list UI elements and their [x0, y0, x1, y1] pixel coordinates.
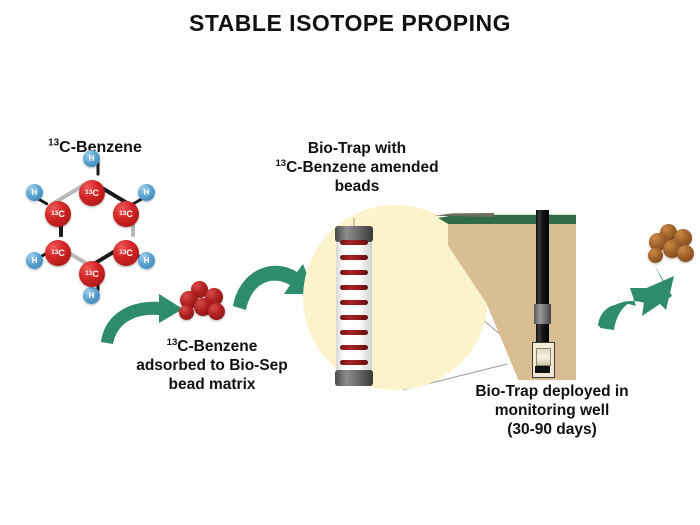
bead-red-5 — [208, 303, 225, 320]
bio-trap-bead-band — [340, 330, 368, 335]
diagram-canvas: STABLE ISOTOPE PROPING 13C-Benzene 13C 1… — [0, 0, 700, 525]
bio-trap-bead-band — [340, 315, 368, 320]
bio-trap-bead-band — [340, 360, 368, 365]
bio-trap-bead-band — [340, 255, 368, 260]
bead-brown-6 — [648, 248, 663, 263]
biotrap-line-2: 13C-Benzene amended — [275, 159, 438, 176]
bio-trap-cap-bottom — [335, 370, 373, 386]
benzene-label-text: C-Benzene — [59, 139, 142, 156]
bead-brown-5 — [677, 245, 694, 262]
adsorbed-caption: 13C-Benzeneadsorbed to Bio-Sepbead matri… — [112, 338, 312, 395]
bio-trap-bead-band — [340, 285, 368, 290]
carbon-atom-c1: 13C — [79, 180, 105, 206]
adsorbed-line-2: adsorbed to Bio-Sep — [136, 357, 288, 374]
hydrogen-atom-h1: H — [83, 150, 100, 167]
page-title: STABLE ISOTOPE PROPING — [0, 10, 700, 37]
hydrogen-atom-h6: H — [26, 184, 43, 201]
monitoring-well-cross-section — [448, 208, 576, 380]
adsorbed-line-3: bead matrix — [168, 376, 255, 393]
hydrogen-atom-h2: H — [138, 184, 155, 201]
bead-cluster-red — [177, 281, 229, 325]
well-casing-joint — [534, 304, 551, 324]
bio-trap-bead-band — [340, 300, 368, 305]
bio-trap-bead-band — [340, 345, 368, 350]
carbon-atom-c2: 13C — [113, 201, 139, 227]
carbon-atom-c6: 13C — [45, 201, 71, 227]
carbon-atom-c3: 13C — [113, 240, 139, 266]
well-line-2: monitoring well — [495, 402, 610, 419]
biotrap-caption: Bio-Trap with13C-Benzene amendedbeads — [252, 140, 462, 197]
benzene-label-sup: 13 — [48, 139, 59, 156]
arrow-well-to-colonized-beads — [596, 262, 680, 334]
carbon-atom-c5: 13C — [45, 240, 71, 266]
adsorbed-line-1: 13C-Benzene — [167, 338, 258, 355]
bio-trap-cylinder — [336, 218, 372, 388]
soil-layer — [448, 220, 576, 380]
bead-red-6 — [179, 305, 194, 320]
hydrogen-atom-h4: H — [83, 287, 100, 304]
bead-cluster-brown — [647, 224, 699, 268]
biotrap-line-1: Bio-Trap with — [308, 140, 406, 157]
carbon-atom-c4: 13C — [79, 261, 105, 287]
bio-trap-bead-band — [340, 240, 368, 245]
bio-trap-bead-band — [340, 270, 368, 275]
biotrap-line-3: beads — [335, 178, 380, 195]
well-line-3: (30-90 days) — [507, 421, 597, 438]
deployed-bio-trap — [536, 348, 551, 366]
well-caption: Bio-Trap deployed inmonitoring well(30-9… — [432, 383, 672, 440]
benzene-molecule: 13C 13C 13C 13C 13C 13C H H H H H H — [22, 172, 162, 297]
hydrogen-atom-h3: H — [138, 252, 155, 269]
hydrogen-atom-h5: H — [26, 252, 43, 269]
well-line-1: Bio-Trap deployed in — [475, 383, 628, 400]
well-sump-base — [535, 366, 550, 373]
